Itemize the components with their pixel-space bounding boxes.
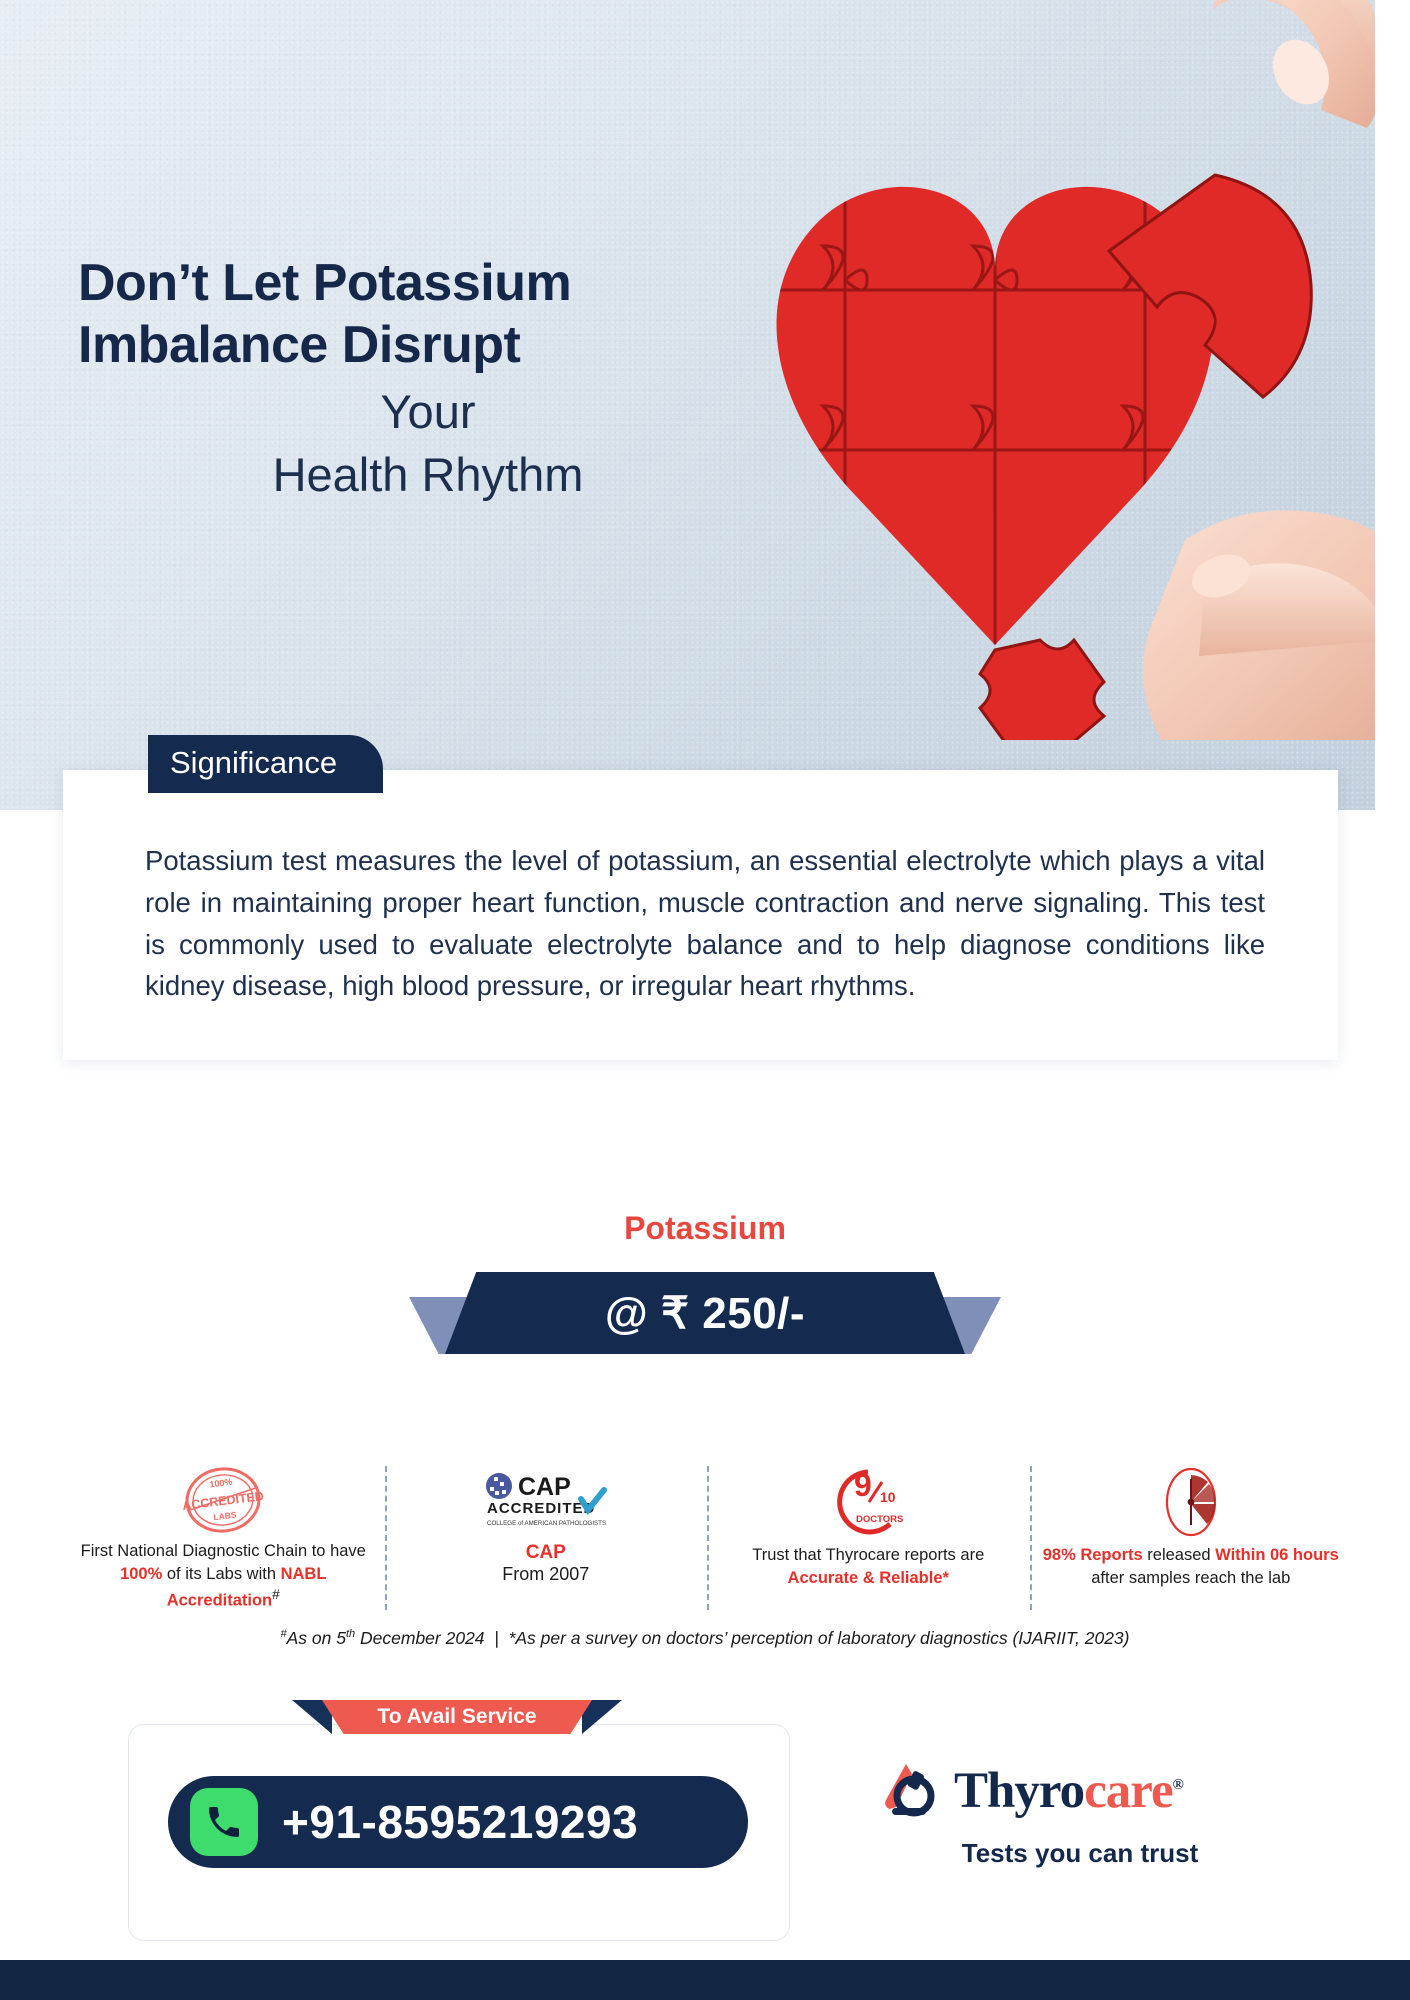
ribbon-body: @ ₹ 250/- xyxy=(445,1272,965,1354)
badge-nabl-text: First National Diagnostic Chain to have … xyxy=(70,1540,377,1612)
headline-line-4: Health Rhythm xyxy=(78,446,718,503)
badge-doctors-text: Trust that Thyrocare reports are Accurat… xyxy=(715,1544,1022,1590)
test-name: Potassium xyxy=(0,1210,1410,1247)
report-speed-dial-icon xyxy=(1151,1462,1231,1542)
price-ribbon: @ ₹ 250/- xyxy=(0,1272,1410,1354)
significance-card: Significance Potassium test measures the… xyxy=(63,770,1338,1060)
svg-text:100%: 100% xyxy=(209,1477,233,1490)
disclaimer-separator: | xyxy=(494,1628,499,1648)
disclaimer-ordinal: th xyxy=(346,1628,355,1640)
svg-text:10: 10 xyxy=(880,1489,896,1505)
disclaimer-part2: *As per a survey on doctors’ perception … xyxy=(509,1628,1130,1648)
badge-nabl-mid: of its Labs with xyxy=(162,1565,280,1583)
phone-cta-button[interactable]: +91-8595219293 xyxy=(168,1776,748,1868)
brand-tagline: Tests you can trust xyxy=(880,1838,1280,1869)
badge-doctors-pre: Trust that Thyrocare reports are xyxy=(752,1546,984,1564)
headline-line-3: Your xyxy=(78,383,718,440)
badge-turnaround: 98% Reports released Within 06 hours aft… xyxy=(1030,1462,1353,1612)
phone-number: +91-8595219293 xyxy=(282,1795,638,1849)
svg-text:LABS: LABS xyxy=(213,1510,238,1523)
badge-nabl-sup: # xyxy=(272,1587,280,1602)
brand-name-part2: care xyxy=(1084,1763,1173,1819)
headline-line-1: Don’t Let Potassium xyxy=(78,252,718,314)
price-amount: @ ₹ 250/- xyxy=(605,1288,805,1339)
badge-cap-title: CAP xyxy=(526,1542,566,1564)
svg-text:ACCREDITED: ACCREDITED xyxy=(487,1500,595,1517)
hero-banner: Don’t Let Potassium Imbalance Disrupt Yo… xyxy=(0,0,1375,810)
phone-handset-icon xyxy=(190,1788,258,1856)
nine-of-ten-doctors-icon: 9 10 DOCTORS xyxy=(822,1462,914,1542)
footer-bar xyxy=(0,1960,1410,2000)
badge-nabl-pre: First National Diagnostic Chain to have xyxy=(81,1542,366,1560)
badge-turnaround-post: after samples reach the lab xyxy=(1091,1569,1290,1587)
badge-doctors: 9 10 DOCTORS Trust that Thyrocare report… xyxy=(707,1462,1030,1612)
headline: Don’t Let Potassium Imbalance Disrupt Yo… xyxy=(78,252,718,503)
badge-turnaround-hl1: 98% Reports xyxy=(1043,1546,1143,1564)
brand-name-part1: Thyro xyxy=(954,1763,1084,1819)
badge-cap: CAP ACCREDITED COLLEGE of AMERICAN PATHO… xyxy=(385,1462,708,1612)
trust-badges-row: 100% ACCREDITED LABS First National Diag… xyxy=(62,1462,1352,1612)
significance-body: Potassium test measures the level of pot… xyxy=(145,840,1265,1007)
avail-label: To Avail Service xyxy=(377,1705,536,1729)
badge-nabl-hl1: 100% xyxy=(120,1565,162,1583)
svg-text:COLLEGE of AMERICAN PATHOLOGIS: COLLEGE of AMERICAN PATHOLOGISTS xyxy=(487,1520,606,1527)
svg-text:CAP: CAP xyxy=(518,1473,571,1501)
puzzle-heart-image xyxy=(665,0,1375,740)
significance-tag: Significance xyxy=(148,735,383,793)
svg-text:DOCTORS: DOCTORS xyxy=(856,1514,903,1525)
disclaimer-part1-end: December 2024 xyxy=(355,1628,484,1648)
accredited-stamp-icon: 100% ACCREDITED LABS xyxy=(177,1462,269,1538)
brand-registered-mark: ® xyxy=(1173,1777,1183,1793)
headline-line-2: Imbalance Disrupt xyxy=(78,314,718,376)
badge-turnaround-text: 98% Reports released Within 06 hours aft… xyxy=(1043,1544,1339,1590)
badge-turnaround-hl2: Within 06 hours xyxy=(1215,1546,1339,1564)
avail-band: To Avail Service xyxy=(322,1700,592,1734)
cap-accredited-icon: CAP ACCREDITED COLLEGE of AMERICAN PATHO… xyxy=(481,1462,611,1542)
badge-nabl: 100% ACCREDITED LABS First National Diag… xyxy=(62,1462,385,1612)
svg-text:9: 9 xyxy=(854,1467,872,1503)
brand-logo: Thyrocare® Tests you can trust xyxy=(880,1760,1280,1869)
hand-bottom xyxy=(1143,510,1375,740)
thyrocare-microscope-icon xyxy=(880,1760,946,1822)
badge-doctors-hl: Accurate & Reliable* xyxy=(788,1569,949,1587)
brand-name: Thyrocare® xyxy=(954,1762,1183,1820)
avail-service-banner: To Avail Service xyxy=(322,1700,592,1734)
disclaimer: #As on 5th December 2024 | *As per a sur… xyxy=(0,1628,1410,1649)
hand-top xyxy=(1213,0,1375,128)
disclaimer-part1: As on 5 xyxy=(287,1628,346,1648)
badge-cap-subtitle: From 2007 xyxy=(502,1564,589,1585)
badge-turnaround-mid: released xyxy=(1143,1546,1215,1564)
